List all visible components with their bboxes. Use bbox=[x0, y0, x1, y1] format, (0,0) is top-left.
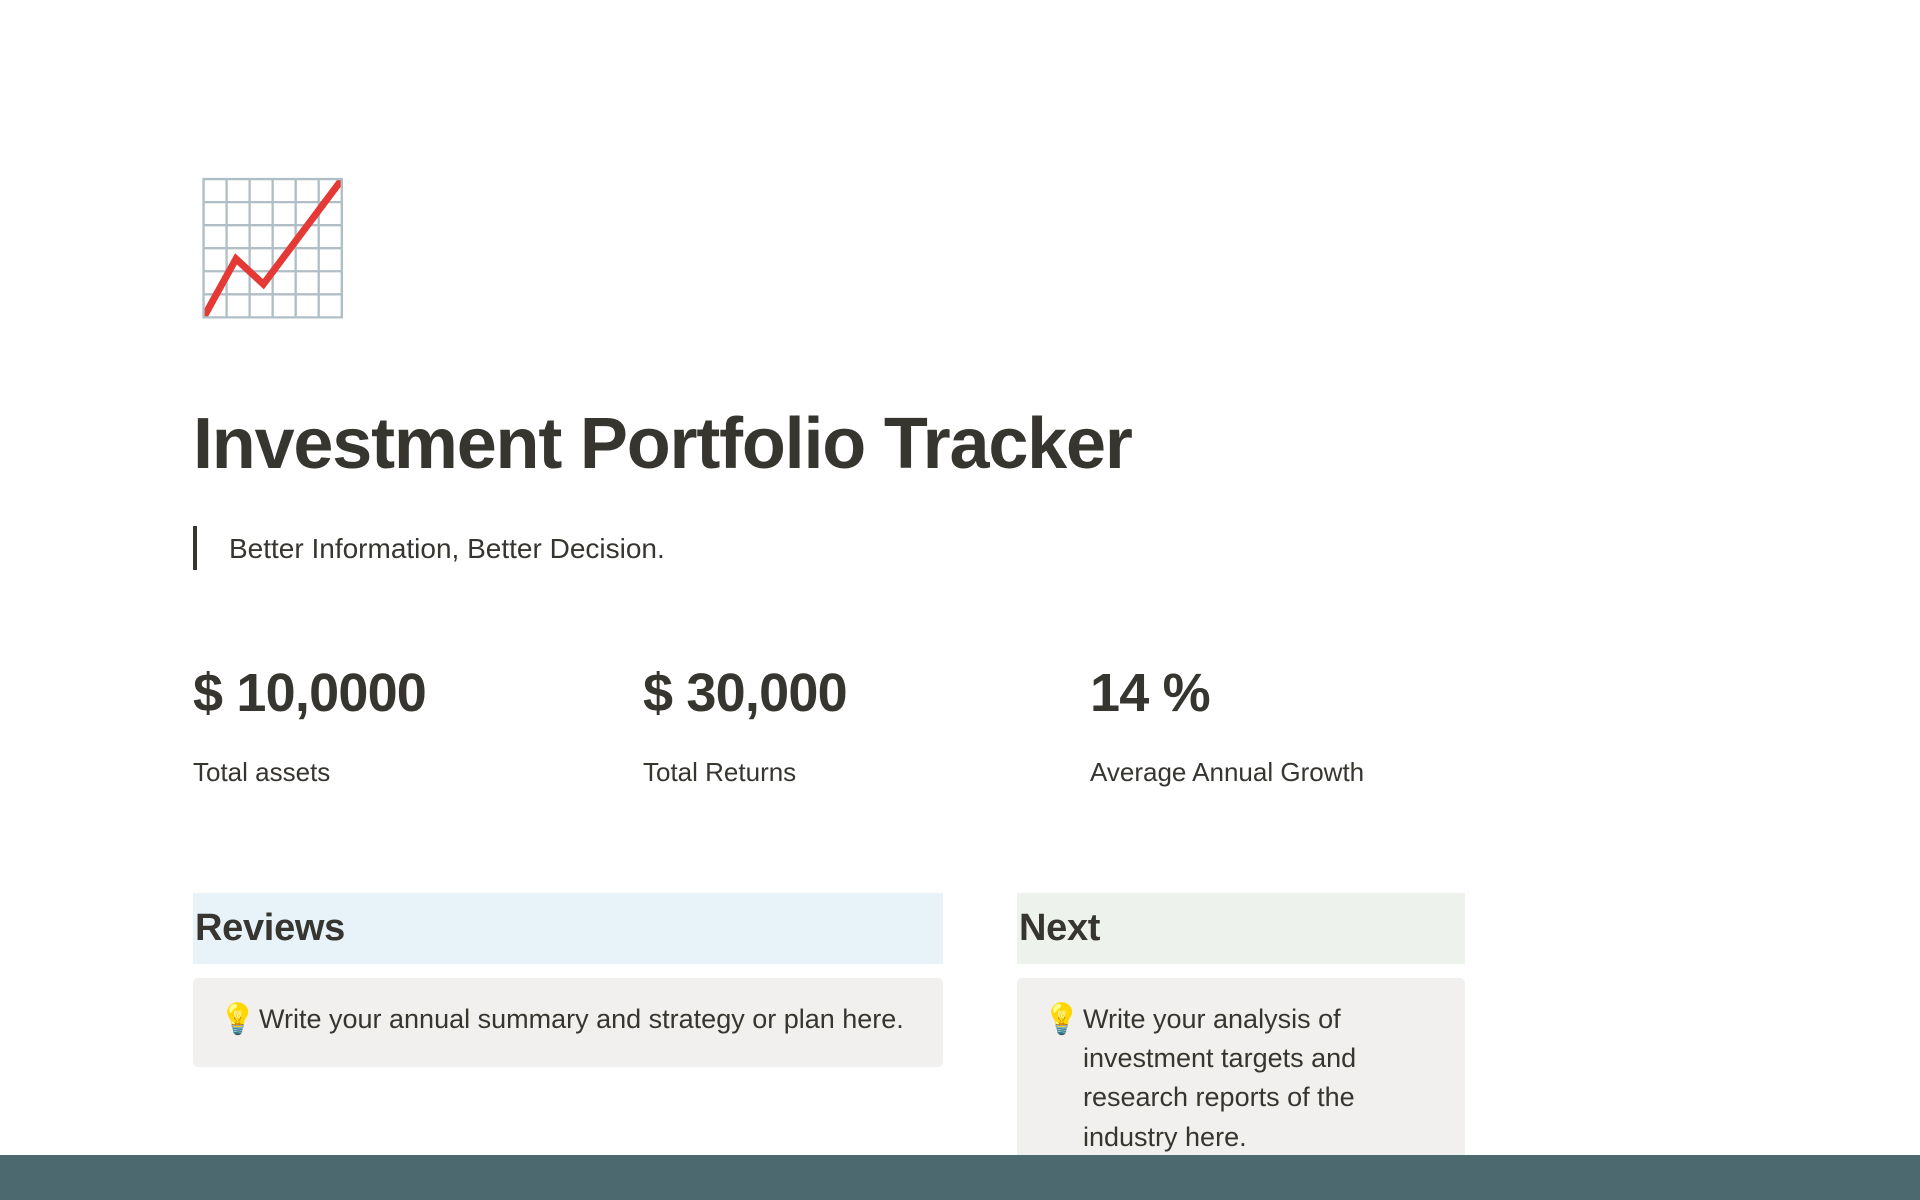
quote-block[interactable]: Better Information, Better Decision. bbox=[193, 526, 1783, 570]
stat-label[interactable]: Total Returns bbox=[643, 754, 1090, 790]
section-heading-reviews[interactable]: Reviews bbox=[193, 893, 943, 965]
stat-value[interactable]: $ 10,0000 bbox=[193, 662, 643, 724]
light-bulb-icon: 💡 bbox=[219, 1000, 259, 1041]
stat-average-annual-growth: 14 % Average Annual Growth bbox=[1090, 662, 1540, 790]
stat-value[interactable]: 14 % bbox=[1090, 662, 1540, 724]
stats-row: $ 10,0000 Total assets $ 30,000 Total Re… bbox=[193, 662, 1713, 790]
stat-total-assets: $ 10,0000 Total assets bbox=[193, 662, 643, 790]
bottom-bar bbox=[0, 1155, 1920, 1200]
column-divider bbox=[943, 893, 1017, 1183]
page-title[interactable]: Investment Portfolio Tracker bbox=[193, 405, 1783, 484]
column-reviews: Reviews 💡 Write your annual summary and … bbox=[193, 893, 943, 1183]
quote-text[interactable]: Better Information, Better Decision. bbox=[197, 529, 665, 568]
callout-text[interactable]: Write your analysis of investment target… bbox=[1083, 1000, 1439, 1157]
callout-reviews[interactable]: 💡 Write your annual summary and strategy… bbox=[193, 978, 943, 1067]
page-root: 📈 Investment Portfolio Tracker Better In… bbox=[0, 0, 1920, 1200]
light-bulb-icon: 💡 bbox=[1043, 1000, 1083, 1041]
section-heading-next[interactable]: Next bbox=[1017, 893, 1465, 965]
page-content: 📈 Investment Portfolio Tracker Better In… bbox=[193, 0, 1783, 1183]
stat-total-returns: $ 30,000 Total Returns bbox=[643, 662, 1090, 790]
callout-text[interactable]: Write your annual summary and strategy o… bbox=[259, 1000, 904, 1039]
column-next: Next 💡 Write your analysis of investment… bbox=[1017, 893, 1465, 1183]
two-column-section: Reviews 💡 Write your annual summary and … bbox=[193, 893, 1465, 1183]
stat-value[interactable]: $ 30,000 bbox=[643, 662, 1090, 724]
stat-label[interactable]: Average Annual Growth bbox=[1090, 754, 1540, 790]
stat-label[interactable]: Total assets bbox=[193, 754, 643, 790]
callout-next[interactable]: 💡 Write your analysis of investment targ… bbox=[1017, 978, 1465, 1183]
chart-increasing-icon[interactable]: 📈 bbox=[193, 185, 325, 343]
